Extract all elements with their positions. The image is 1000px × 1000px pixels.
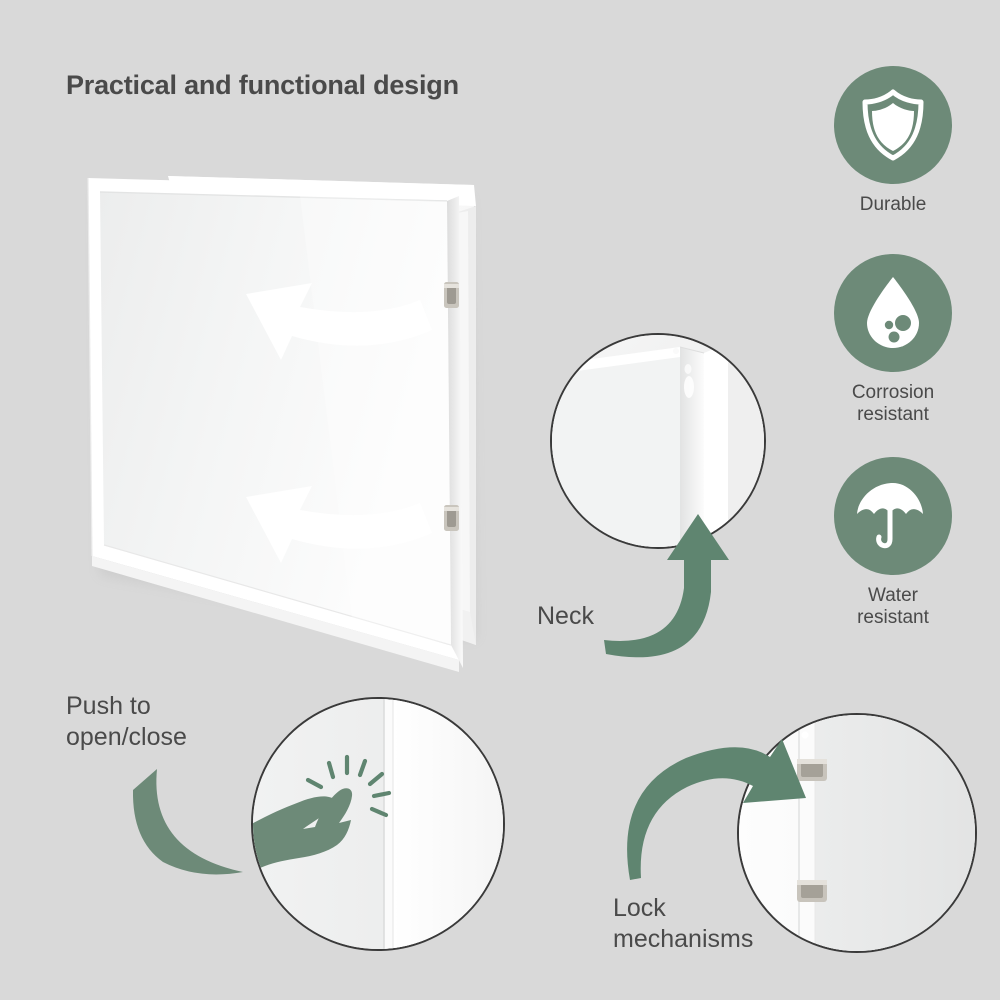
lock-clip-icon bbox=[797, 880, 827, 902]
badge-label: Durable bbox=[818, 194, 968, 216]
hinge-icon bbox=[444, 282, 459, 308]
callout-circle-neck bbox=[550, 333, 766, 549]
feature-badge-durable[interactable]: Durable bbox=[818, 66, 968, 216]
badge-circle bbox=[834, 254, 952, 372]
callout-label-push: Push to open/close bbox=[66, 691, 187, 754]
water-drop-icon bbox=[861, 275, 925, 351]
callout-circle-push bbox=[251, 697, 505, 951]
swing-arrow-icon bbox=[246, 283, 432, 360]
page-title: Practical and functional design bbox=[66, 70, 459, 101]
curved-arrow-icon bbox=[133, 769, 243, 874]
panel-frame bbox=[168, 176, 476, 645]
feature-badge-corrosion-resistant[interactable]: Corrosion resistant bbox=[818, 254, 968, 427]
badge-circle bbox=[834, 457, 952, 575]
shield-icon bbox=[860, 89, 926, 161]
callout-circle-lock bbox=[737, 713, 977, 953]
lock-clip-icon bbox=[797, 759, 827, 781]
umbrella-icon bbox=[855, 481, 931, 551]
product-shadow bbox=[96, 190, 476, 640]
infographic-page: Practical and functional design bbox=[0, 0, 1000, 1000]
callout-label-neck: Neck bbox=[537, 601, 594, 632]
badge-label: Corrosion resistant bbox=[818, 382, 968, 427]
panel-door-leaf bbox=[88, 178, 463, 672]
lock-detail-photo bbox=[739, 715, 975, 951]
swing-arrow-icon bbox=[246, 486, 432, 563]
badge-label: Water resistant bbox=[818, 585, 968, 630]
neck-detail-photo bbox=[552, 335, 764, 547]
feature-badge-water-resistant[interactable]: Water resistant bbox=[818, 457, 968, 630]
hinge-icon bbox=[444, 505, 459, 531]
callout-label-lock: Lock mechanisms bbox=[613, 893, 753, 956]
badge-circle bbox=[834, 66, 952, 184]
push-detail-photo bbox=[253, 699, 503, 949]
